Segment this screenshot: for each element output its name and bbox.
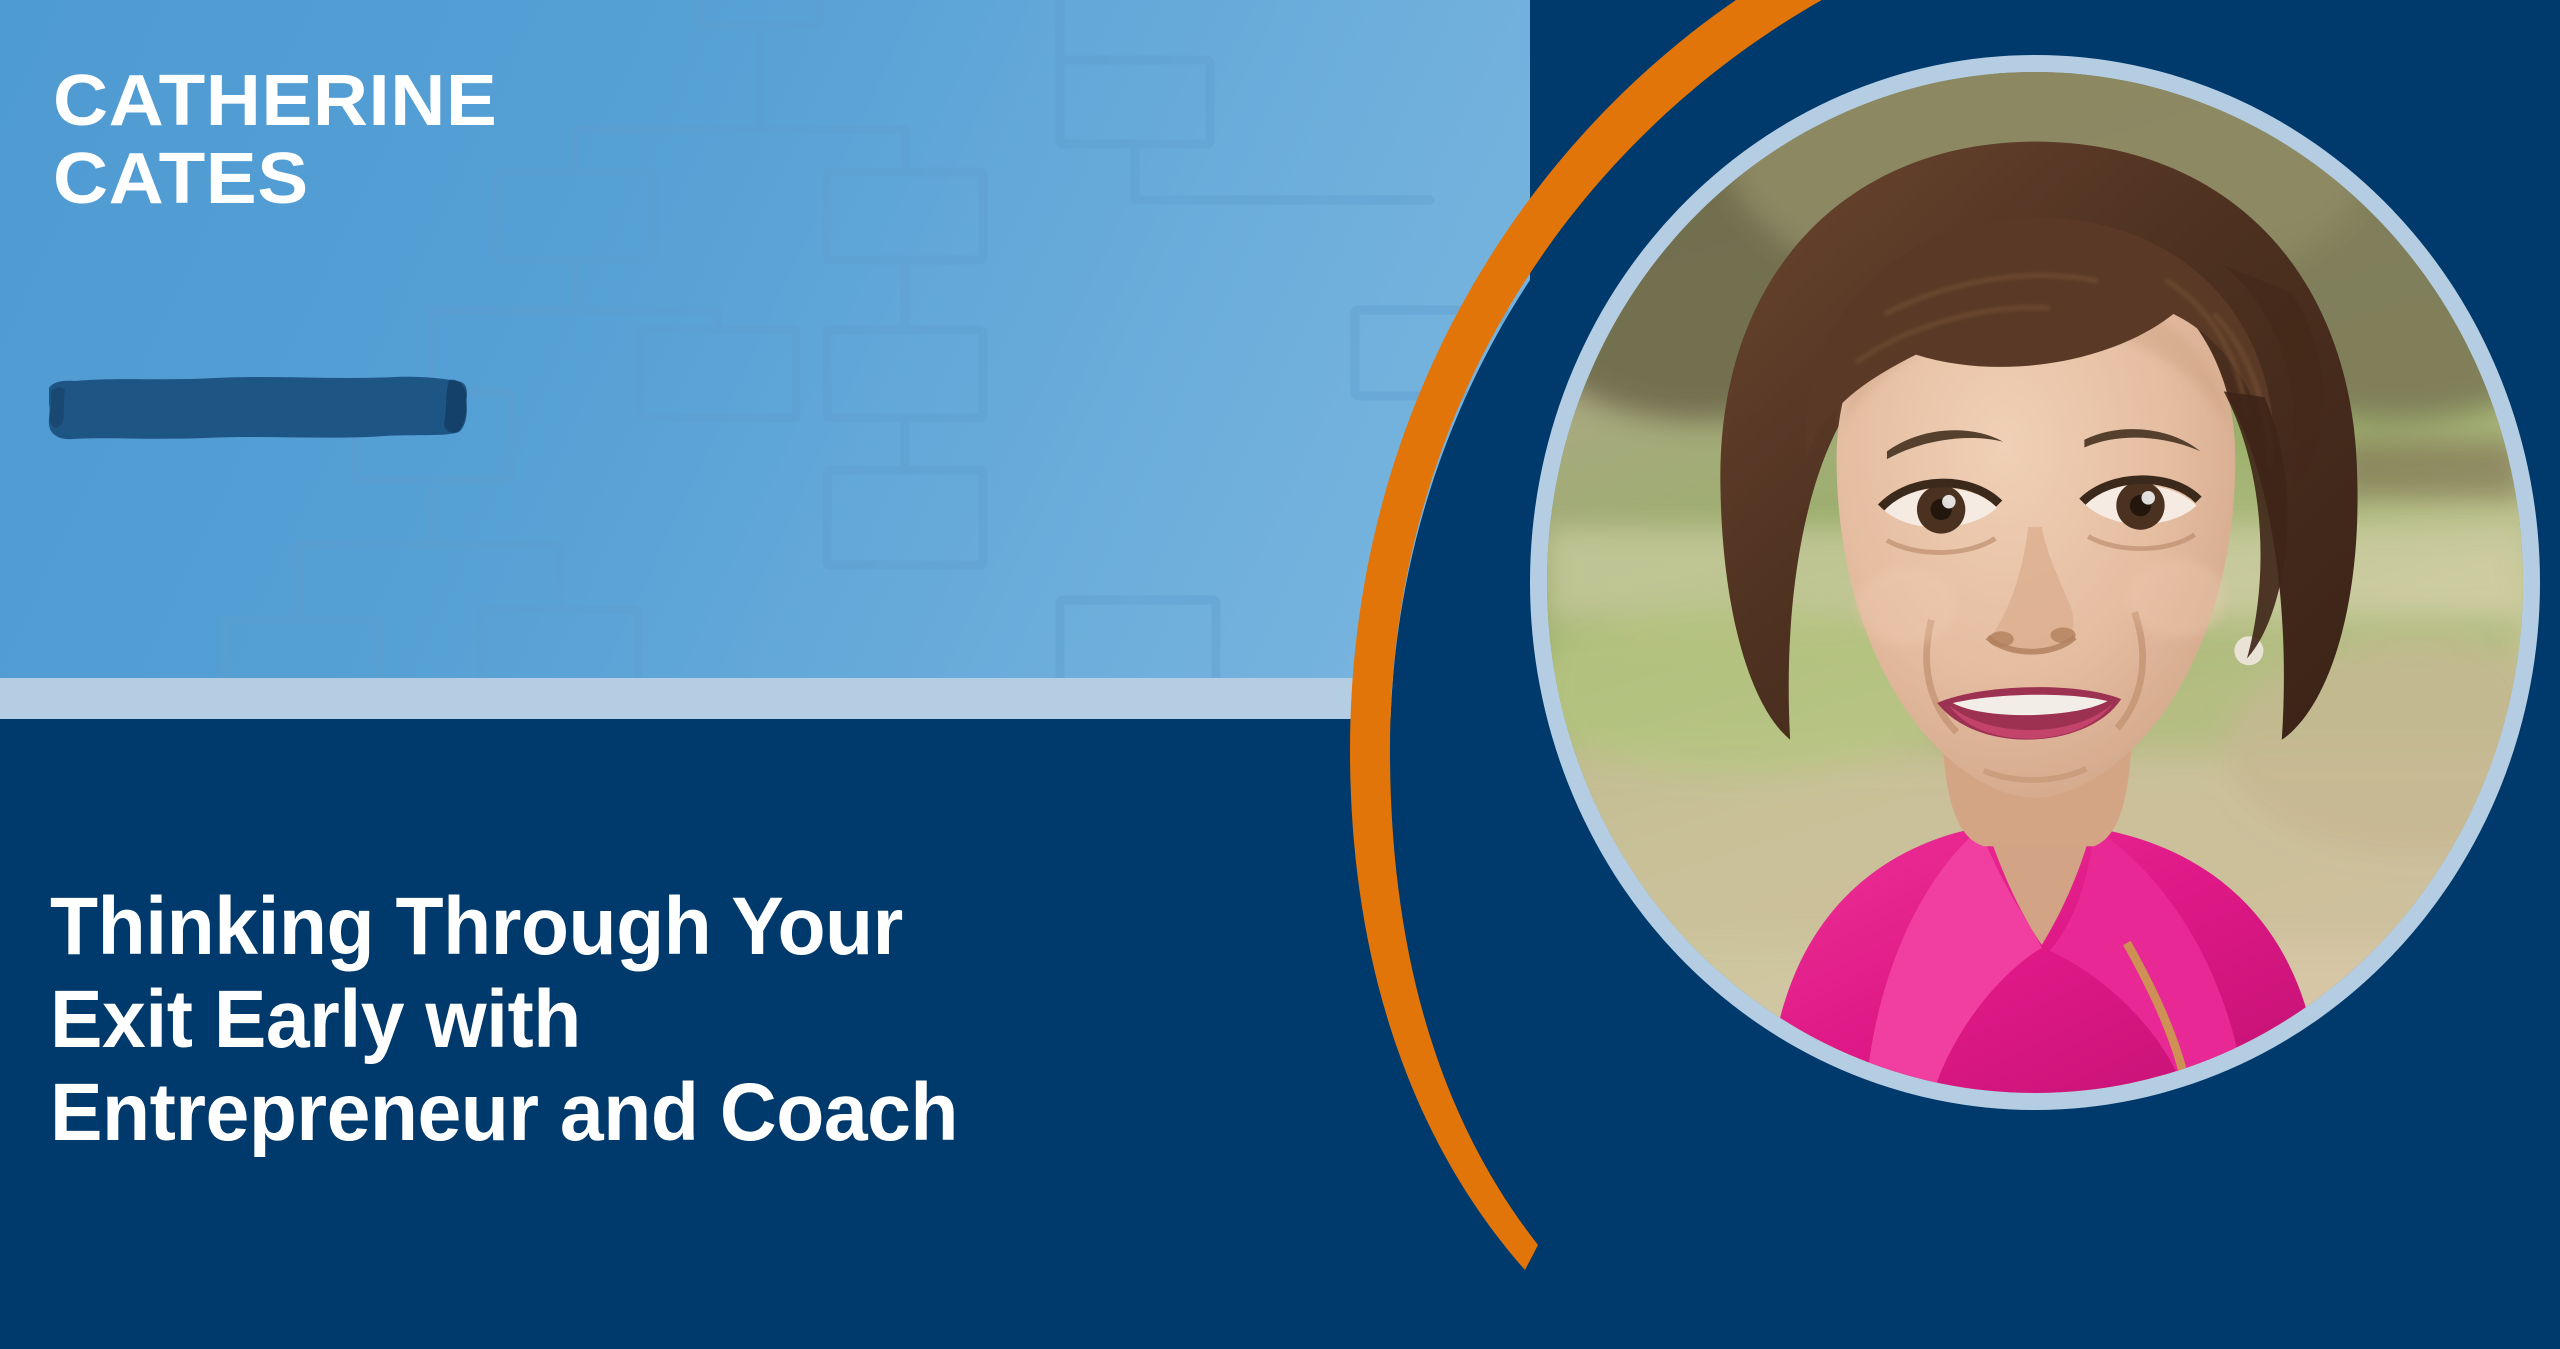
speaker-name-line-1: CATHERINE	[53, 62, 497, 140]
episode-title: Thinking Through Your Exit Early with En…	[50, 880, 1450, 1159]
brush-stroke-underline	[45, 372, 470, 444]
right-art-hitbox	[1400, 60, 2500, 1160]
speaker-name-line-2: CATES	[53, 140, 497, 218]
light-blue-divider-strip	[0, 678, 1530, 719]
episode-title-line-2: Exit Early with	[50, 973, 1394, 1066]
episode-title-line-3: Entrepreneur and Coach	[50, 1066, 1394, 1159]
speaker-name: CATHERINE CATES	[53, 62, 472, 218]
speaker-promo-card: CATHERINE CATES Thinking Through Your Ex…	[0, 0, 2560, 1349]
episode-title-line-1: Thinking Through Your	[50, 880, 1394, 973]
